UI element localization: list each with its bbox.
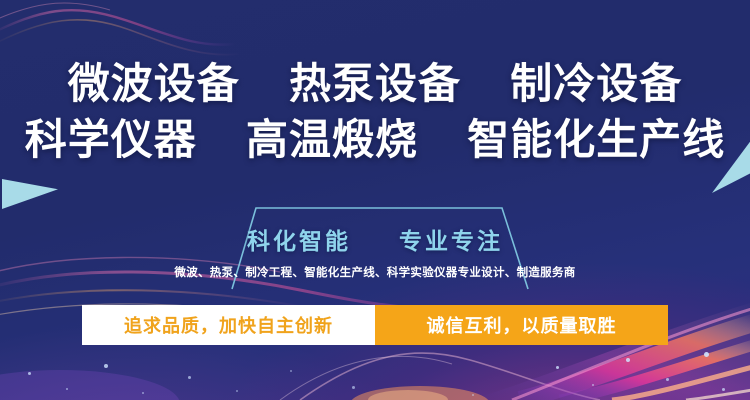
headline-word-refrigeration: 制冷设备 [510, 59, 682, 108]
sparkle-dot [704, 352, 709, 357]
sparkle-dot [188, 376, 191, 379]
bottom-slogan-bars: 追求品质，加快自主创新 诚信互利，以质量取胜 [82, 305, 668, 345]
sparkle-dot [236, 390, 238, 392]
sparkle-dot [666, 378, 669, 381]
sparkle-dot [104, 364, 108, 368]
slogan-left: 科化智能 [247, 229, 351, 255]
headline-word-instruments: 科学仪器 [25, 115, 197, 164]
sparkle-dot [28, 372, 31, 375]
slogan-right: 专业专注 [399, 229, 503, 255]
sparkle-dot [722, 388, 725, 391]
headline: 微波设备 热泵设备 制冷设备 科学仪器 高温煅烧 智能化生产线 [0, 62, 750, 161]
sparkle-dot [66, 388, 68, 390]
sparkle-dot [472, 394, 474, 396]
triangle-left-decoration [2, 179, 58, 209]
sparkle-dot [290, 370, 292, 372]
headline-word-calcination: 高温煅烧 [246, 115, 418, 164]
sparkle-dot [352, 386, 355, 389]
sub-copy: 微波、热泵、制冷工程、智能化生产线、科学实验仪器专业设计、制造服务商 [0, 264, 750, 280]
sparkle-dot [626, 358, 630, 362]
slogan: 科化智能 专业专注 [0, 222, 750, 256]
sparkle-dot [556, 366, 559, 369]
headline-line-2: 科学仪器 高温煅烧 智能化生产线 [0, 118, 750, 162]
headline-line-1: 微波设备 热泵设备 制冷设备 [0, 62, 750, 106]
sparkle-dot [592, 384, 594, 386]
slogan-bar-quality: 追求品质，加快自主创新 [82, 305, 375, 345]
headline-word-microwave: 微波设备 [68, 59, 240, 108]
slogan-bar-integrity: 诚信互利，以质量取胜 [375, 305, 668, 345]
headline-word-smartline: 智能化生产线 [467, 115, 725, 164]
promo-banner: 微波设备 热泵设备 制冷设备 科学仪器 高温煅烧 智能化生产线 科化智能 专业专… [0, 0, 750, 400]
sparkle-dot [142, 392, 144, 394]
headline-word-heatpump: 热泵设备 [289, 59, 461, 108]
